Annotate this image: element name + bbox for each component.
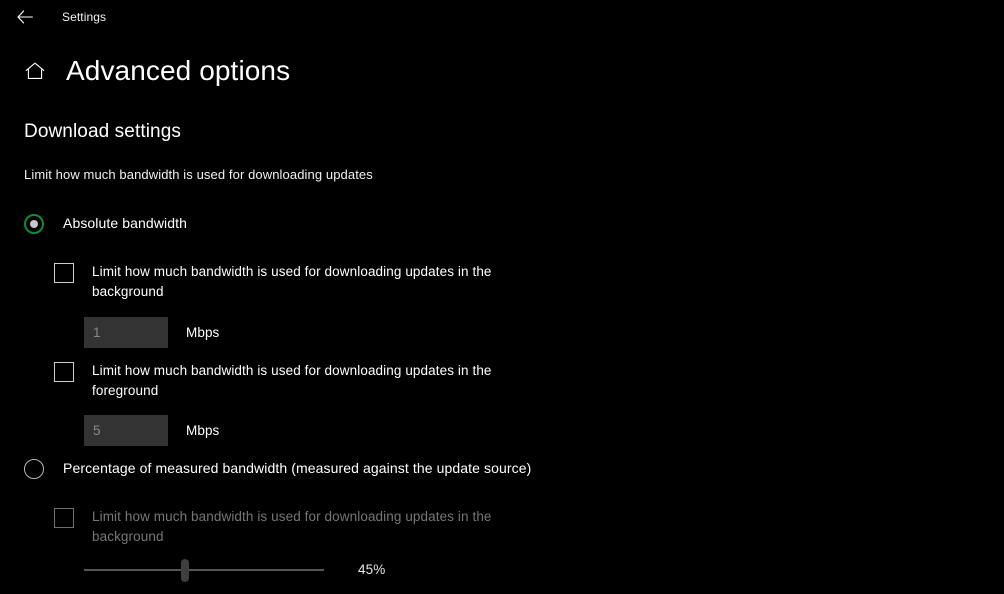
radio-option-percentage-bandwidth[interactable]: Percentage of measured bandwidth (measur…	[24, 458, 531, 479]
slider-track	[84, 569, 324, 571]
radio-label-absolute-bandwidth: Absolute bandwidth	[63, 213, 187, 233]
bandwidth-foreground-field-row: Mbps	[84, 415, 219, 446]
bandwidth-background-unit: Mbps	[186, 323, 219, 343]
slider-value-label: 45%	[358, 560, 385, 580]
percentage-slider-row: 45%	[84, 556, 385, 584]
checkbox-limit-background-percentage[interactable]: Limit how much bandwidth is used for dow…	[54, 507, 544, 547]
radio-label-percentage-bandwidth: Percentage of measured bandwidth (measur…	[63, 458, 531, 478]
back-button[interactable]	[10, 3, 40, 31]
checkbox-unchecked-icon	[54, 362, 74, 382]
bandwidth-background-field-row: Mbps	[84, 317, 219, 348]
page-title: Advanced options	[66, 53, 290, 89]
bandwidth-foreground-unit: Mbps	[186, 421, 219, 441]
title-bar: Settings	[0, 0, 1004, 34]
app-title: Settings	[62, 9, 106, 25]
checkbox-limit-background[interactable]: Limit how much bandwidth is used for dow…	[54, 262, 544, 302]
radio-selected-icon	[24, 214, 44, 234]
slider-thumb[interactable]	[181, 559, 189, 582]
page-header: Advanced options	[22, 53, 290, 89]
radio-option-absolute-bandwidth[interactable]: Absolute bandwidth	[24, 213, 187, 234]
checkbox-unchecked-icon	[54, 508, 74, 528]
bandwidth-foreground-input[interactable]	[84, 415, 168, 446]
checkbox-label-limit-foreground: Limit how much bandwidth is used for dow…	[92, 361, 544, 401]
checkbox-label-limit-background-percentage: Limit how much bandwidth is used for dow…	[92, 507, 544, 547]
back-arrow-icon	[17, 10, 33, 24]
section-description: Limit how much bandwidth is used for dow…	[24, 166, 373, 184]
checkbox-limit-foreground[interactable]: Limit how much bandwidth is used for dow…	[54, 361, 544, 401]
bandwidth-background-input[interactable]	[84, 317, 168, 348]
percentage-slider[interactable]	[84, 556, 324, 584]
home-icon[interactable]	[22, 58, 48, 84]
radio-unselected-icon	[24, 459, 44, 479]
checkbox-unchecked-icon	[54, 263, 74, 283]
section-title: Download settings	[24, 120, 181, 144]
checkbox-label-limit-background: Limit how much bandwidth is used for dow…	[92, 262, 544, 302]
